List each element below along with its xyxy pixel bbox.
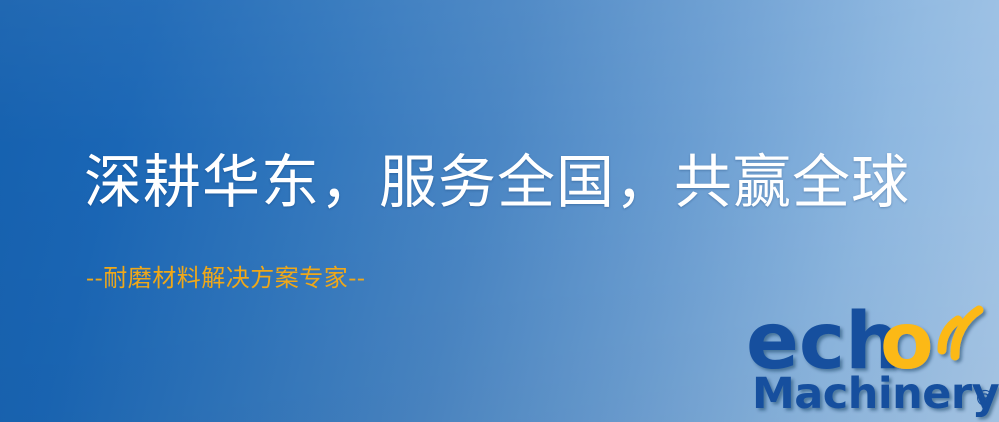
banner-subtitle: --耐磨材料解决方案专家-- <box>86 265 365 291</box>
echo-machinery-logo: ech o Machinery ® <box>746 296 999 422</box>
promotional-banner: 深耕华东，服务全国，共赢全球 --耐磨材料解决方案专家-- ech o Mach… <box>0 0 999 422</box>
logo-registered-trademark-icon: ® <box>974 387 996 412</box>
logo-wordmark-machinery: Machinery <box>752 369 999 419</box>
banner-headline: 深耕华东，服务全国，共赢全球 <box>84 152 910 213</box>
signal-waves-icon <box>942 310 979 356</box>
